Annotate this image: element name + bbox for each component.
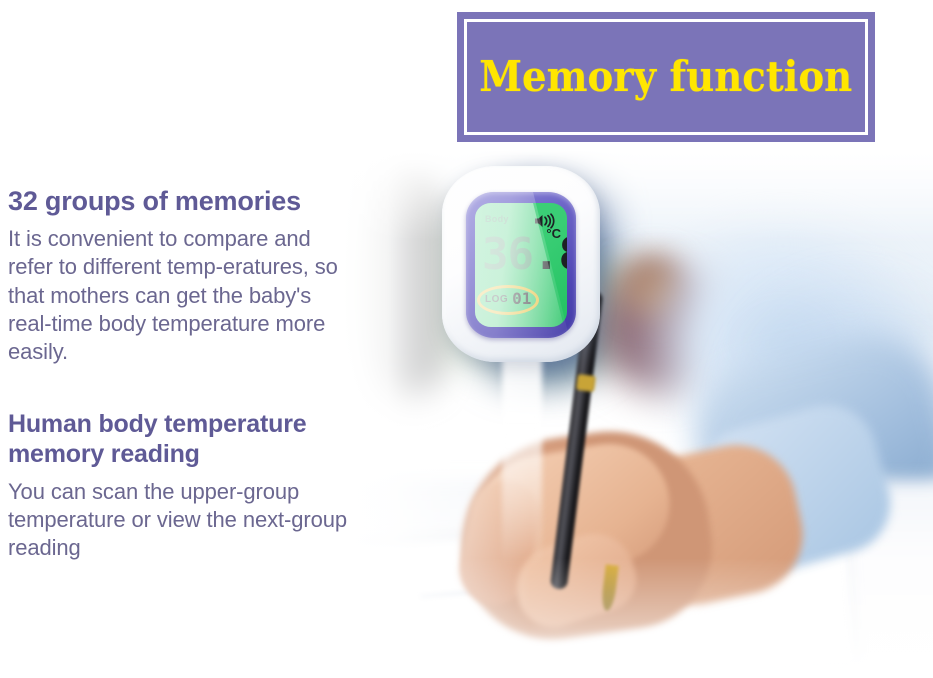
lcd-unit-label: °C xyxy=(546,227,561,240)
log-highlight-ellipse xyxy=(477,285,539,315)
banner-inner-border: Memory function xyxy=(464,19,868,135)
feature-heading: Human body temperature memory reading xyxy=(8,409,353,469)
feature-text-column: 32 groups of memories It is convenient t… xyxy=(8,186,353,563)
feature-block-memory-reading: Human body temperature memory reading Yo… xyxy=(8,409,353,563)
lcd-mode-label: Body xyxy=(485,214,509,224)
device-screen-bezel: Body 36.8 °C LOG 01 xyxy=(466,192,576,338)
banner-title: Memory function xyxy=(479,56,852,98)
thermometer-device: Body 36.8 °C LOG 01 xyxy=(442,166,600,366)
lcd-temperature-whole: 36 xyxy=(482,229,533,280)
feature-body-text: You can scan the upper-group temperature… xyxy=(8,478,353,563)
background-photo xyxy=(300,150,933,678)
lcd-screen: Body 36.8 °C LOG 01 xyxy=(475,203,567,327)
product-feature-graphic: Memory function Body 36.8 xyxy=(0,0,933,678)
photo-bottom-fade xyxy=(300,558,933,678)
memory-function-banner: Memory function xyxy=(457,12,875,142)
feature-block-memories: 32 groups of memories It is convenient t… xyxy=(8,186,353,367)
photo-pen-ring xyxy=(576,374,596,392)
feature-heading: 32 groups of memories xyxy=(8,186,353,217)
photo-top-fade xyxy=(300,150,933,240)
feature-body-text: It is convenient to compare and refer to… xyxy=(8,225,353,367)
